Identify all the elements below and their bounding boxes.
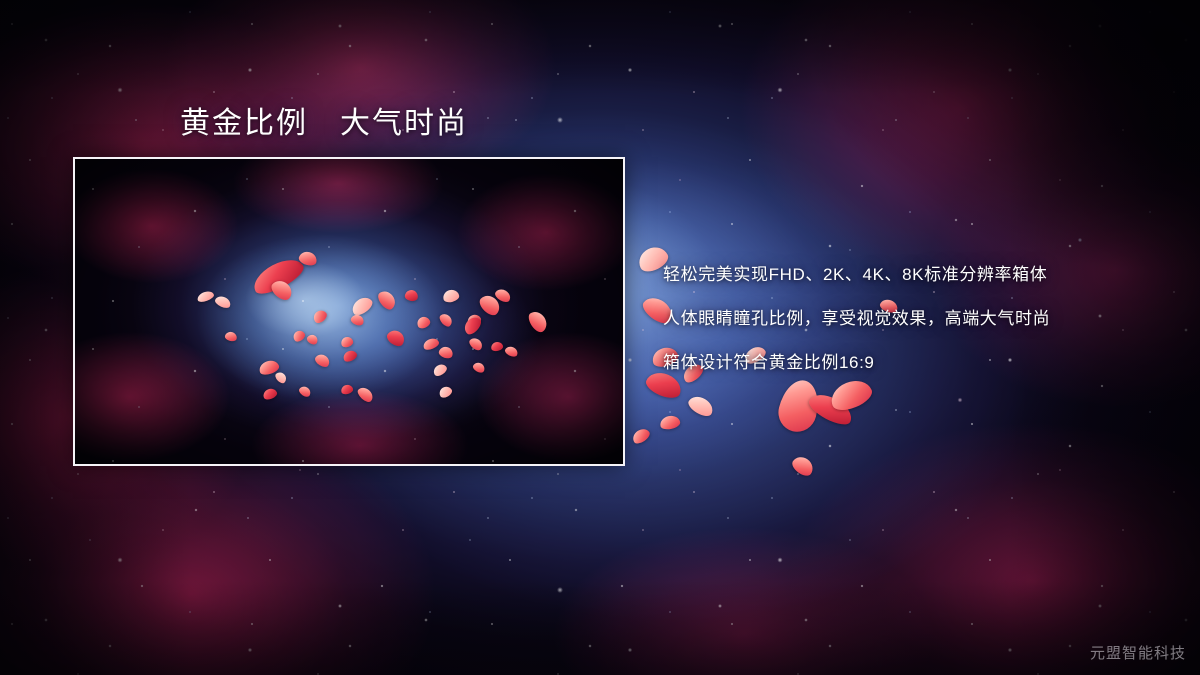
nebula-image <box>75 159 623 464</box>
body-line-3: 箱体设计符合黄金比例16:9 <box>663 341 1143 385</box>
body-line-1: 轻松完美实现FHD、2K、4K、8K标准分辨率箱体 <box>663 253 1143 297</box>
nebula-image-frame <box>73 157 625 466</box>
page-title: 黄金比例 大气时尚 <box>180 98 468 142</box>
body-text-block: 轻松完美实现FHD、2K、4K、8K标准分辨率箱体 人体眼睛瞳孔比例，享受视觉效… <box>663 253 1143 385</box>
body-line-2: 人体眼睛瞳孔比例，享受视觉效果，高端大气时尚 <box>663 297 1143 341</box>
frame-vignette <box>75 159 623 464</box>
slide-canvas: 黄金比例 大气时尚 轻松完美实现FHD、2K、4K、8K标准分辨率箱体 人体眼睛… <box>0 0 1200 675</box>
watermark: 元盟智能科技 <box>1090 642 1186 663</box>
